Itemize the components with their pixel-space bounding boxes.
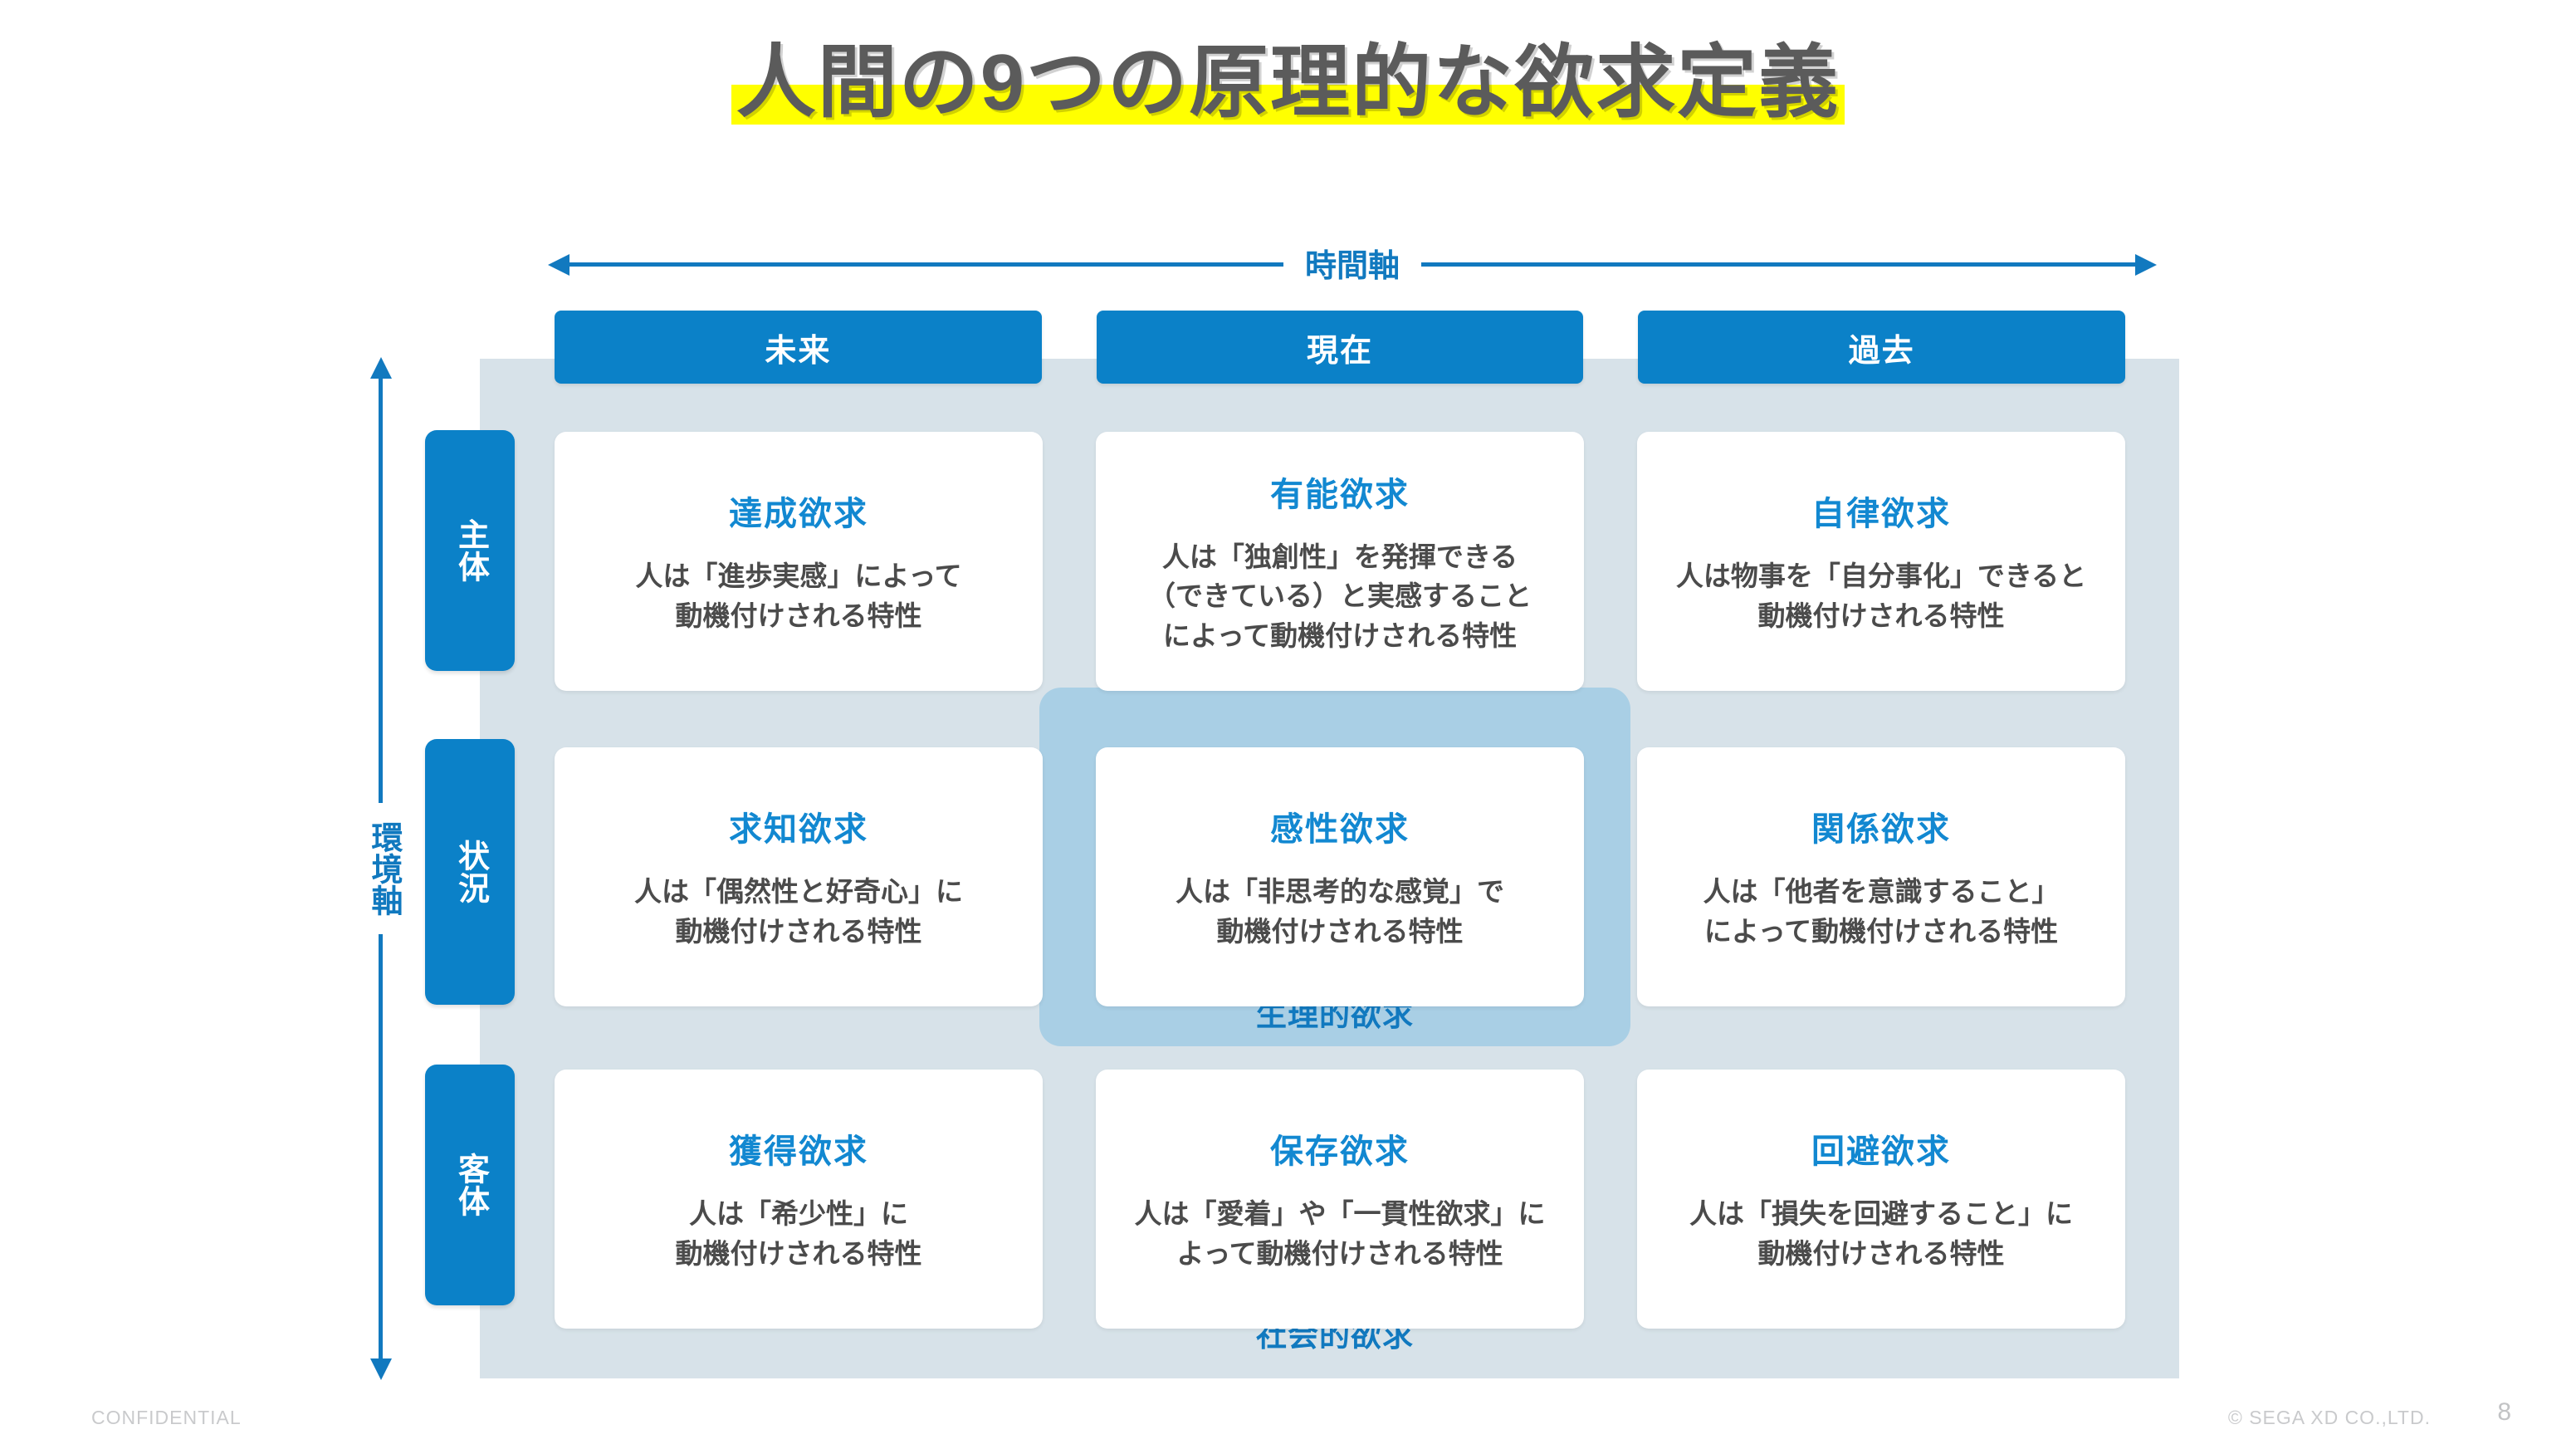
card-title: 関係欲求 bbox=[1811, 802, 1951, 850]
copyright-label: © SEGA XD CO.,LTD. bbox=[2228, 1407, 2431, 1429]
card-relatedness[interactable]: 関係欲求 人は「他者を意識すること」 によって動機付けされる特性 bbox=[1637, 747, 2125, 1006]
card-title: 保存欲求 bbox=[1270, 1124, 1410, 1172]
row-label-object[interactable]: 客体 bbox=[425, 1065, 515, 1305]
confidential-label: CONFIDENTIAL bbox=[91, 1407, 242, 1429]
arrow-left-icon bbox=[548, 254, 569, 276]
card-description: 人は「損失を回避すること」に 動機付けされる特性 bbox=[1689, 1194, 2073, 1273]
card-avoidance[interactable]: 回避欲求 人は「損失を回避すること」に 動機付けされる特性 bbox=[1637, 1070, 2125, 1329]
card-description: 人は物事を「自分事化」できると 動機付けされる特性 bbox=[1676, 556, 2086, 635]
row-label-subject[interactable]: 主体 bbox=[425, 430, 515, 671]
page-title: 人間の9つの原理的な欲求定義 bbox=[0, 38, 2576, 128]
environment-axis: 環境軸 bbox=[365, 357, 400, 1380]
time-axis-label: 時間軸 bbox=[1283, 242, 1421, 291]
card-title: 求知欲求 bbox=[729, 802, 868, 850]
column-header-present[interactable]: 現在 bbox=[1097, 311, 1584, 384]
card-description: 人は「希少性」に 動機付けされる特性 bbox=[676, 1194, 922, 1273]
row-label-object-text: 客体 bbox=[452, 1153, 486, 1217]
card-title: 感性欲求 bbox=[1270, 802, 1410, 850]
card-preservation[interactable]: 保存欲求 人は「愛着」や「一貫性欲求」に よって動機付けされる特性 bbox=[1096, 1070, 1584, 1329]
card-description: 人は「偶然性と好奇心」に 動機付けされる特性 bbox=[634, 872, 963, 951]
environment-axis-label: 環境軸 bbox=[366, 803, 399, 934]
card-title: 有能欲求 bbox=[1270, 467, 1410, 516]
time-axis: 時間軸 bbox=[548, 249, 2157, 284]
arrow-right-icon bbox=[2135, 254, 2157, 276]
card-title: 回避欲求 bbox=[1811, 1124, 1951, 1172]
needs-matrix-grid: 達成欲求 人は「進歩実感」によって 動機付けされる特性 有能欲求 人は「独創性」… bbox=[555, 432, 2125, 1329]
row-label-situation-text: 状況 bbox=[452, 840, 486, 904]
page-number: 8 bbox=[2497, 1398, 2511, 1427]
card-title: 自律欲求 bbox=[1811, 487, 1951, 535]
column-header-row: 未来 現在 過去 bbox=[555, 311, 2125, 384]
row-label-situation[interactable]: 状況 bbox=[425, 739, 515, 1005]
card-description: 人は「愛着」や「一貫性欲求」に よって動機付けされる特性 bbox=[1135, 1194, 1546, 1273]
column-header-past[interactable]: 過去 bbox=[1638, 311, 2125, 384]
card-title: 達成欲求 bbox=[729, 487, 868, 535]
card-description: 人は「非思考的な感覚」で 動機付けされる特性 bbox=[1176, 872, 1504, 951]
card-description: 人は「他者を意識すること」 によって動機付けされる特性 bbox=[1703, 872, 2060, 951]
card-achievement[interactable]: 達成欲求 人は「進歩実感」によって 動機付けされる特性 bbox=[555, 432, 1043, 691]
card-sensibility[interactable]: 感性欲求 人は「非思考的な感覚」で 動機付けされる特性 bbox=[1096, 747, 1584, 1006]
card-acquisition[interactable]: 獲得欲求 人は「希少性」に 動機付けされる特性 bbox=[555, 1070, 1043, 1329]
column-header-future[interactable]: 未来 bbox=[555, 311, 1042, 384]
card-title: 獲得欲求 bbox=[729, 1124, 868, 1172]
row-label-subject-text: 主体 bbox=[452, 518, 486, 583]
card-description: 人は「進歩実感」によって 動機付けされる特性 bbox=[635, 556, 961, 635]
arrow-down-icon bbox=[370, 1358, 392, 1380]
card-autonomy[interactable]: 自律欲求 人は物事を「自分事化」できると 動機付けされる特性 bbox=[1637, 432, 2125, 691]
card-description: 人は「独創性」を発揮できる （できている）と実感すること によって動機付けされる… bbox=[1148, 537, 1532, 656]
arrow-up-icon bbox=[370, 357, 392, 379]
title-text: 人間の9つの原理的な欲求定義 bbox=[736, 38, 1840, 127]
card-competence[interactable]: 有能欲求 人は「独創性」を発揮できる （できている）と実感すること によって動機… bbox=[1096, 432, 1584, 691]
card-curiosity[interactable]: 求知欲求 人は「偶然性と好奇心」に 動機付けされる特性 bbox=[555, 747, 1043, 1006]
